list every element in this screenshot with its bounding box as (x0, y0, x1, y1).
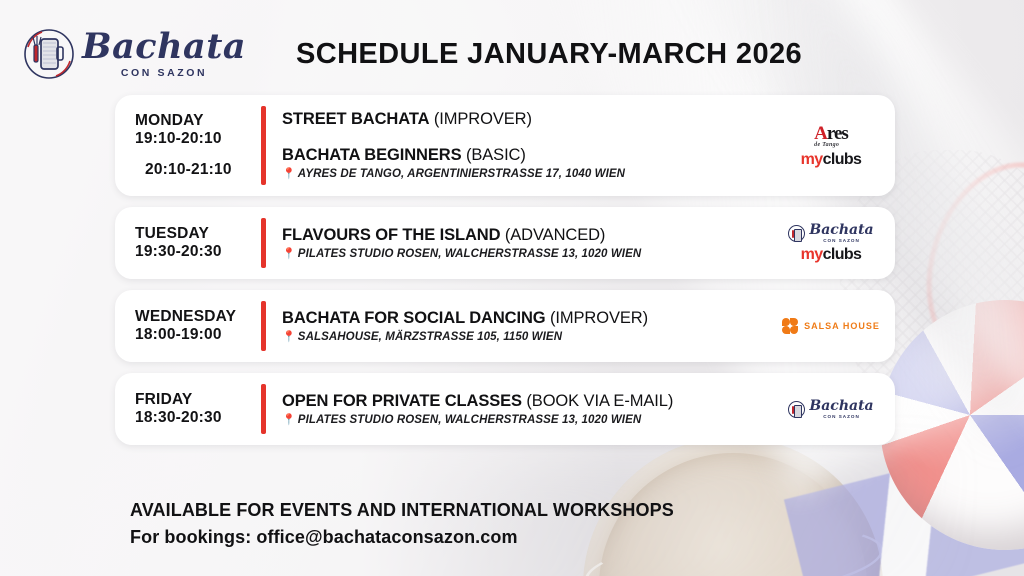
schedule-row-monday[interactable]: MONDAY 19:10-20:10 20:10-21:10 STREET BA… (115, 95, 895, 196)
class-location: 📍PILATES STUDIO ROSEN, WALCHERSTRASSE 13… (282, 413, 775, 427)
bcs-name-label: Bachata (809, 399, 873, 413)
location-pin-icon: 📍 (282, 331, 296, 343)
class-entry: BACHATA BEGINNERS (BASIC) 📍AYRES DE TANG… (282, 145, 775, 182)
class-details: STREET BACHATA (IMPROVER) BACHATA BEGINN… (266, 109, 775, 181)
brand-tagline: CON SAZON (82, 67, 246, 79)
footer: AVAILABLE FOR EVENTS AND INTERNATIONAL W… (130, 500, 674, 548)
bachata-con-sazon-logo: Bachata CON SAZON (788, 223, 873, 243)
class-location: 📍AYRES DE TANGO, ARGENTINIERSTRASSE 17, … (282, 167, 775, 181)
footer-availability: AVAILABLE FOR EVENTS AND INTERNATIONAL W… (130, 500, 674, 521)
class-level: (IMPROVER) (550, 309, 648, 327)
brand-logo: Bachata CON SAZON (22, 22, 252, 86)
brand-name: Bachata (82, 29, 246, 64)
partner-logos: Ares de Tango myclubs (775, 124, 895, 168)
class-name: STREET BACHATA (282, 110, 429, 128)
schedule-row-tuesday[interactable]: TUESDAY 19:30-20:30 FLAVOURS OF THE ISLA… (115, 207, 895, 279)
time-label: 19:10-20:10 (135, 130, 261, 148)
class-entry: STREET BACHATA (IMPROVER) (282, 109, 775, 130)
class-level: (BOOK VIA E-MAIL) (526, 392, 673, 410)
myclubs-logo: myclubs (801, 152, 862, 168)
schedule-row-wednesday[interactable]: WEDNESDAY 18:00-19:00 BACHATA FOR SOCIAL… (115, 290, 895, 362)
class-name: BACHATA BEGINNERS (282, 146, 462, 164)
class-entry: FLAVOURS OF THE ISLAND (ADVANCED) 📍PILAT… (282, 225, 775, 262)
partner-logos: SALSA HOUSE (775, 318, 895, 334)
class-name: FLAVOURS OF THE ISLAND (282, 226, 500, 244)
class-details: OPEN FOR PRIVATE CLASSES (BOOK VIA E-MAI… (266, 391, 775, 428)
guiro-shaker-icon (22, 27, 76, 81)
schedule-row-friday[interactable]: FRIDAY 18:30-20:30 OPEN FOR PRIVATE CLAS… (115, 373, 895, 445)
day-label: TUESDAY (135, 225, 261, 243)
day-time-column: MONDAY 19:10-20:10 20:10-21:10 (135, 112, 261, 180)
day-label: MONDAY (135, 112, 261, 130)
class-level: (ADVANCED) (505, 226, 605, 244)
day-label: FRIDAY (135, 391, 261, 409)
salsa-house-logo: SALSA HOUSE (782, 318, 880, 334)
footer-bookings: For bookings: office@bachataconsazon.com (130, 527, 674, 548)
ayres-de-tango-logo: Ares de Tango (814, 124, 848, 148)
time-label: 19:30-20:30 (135, 243, 261, 261)
partner-logos: Bachata CON SAZON (775, 399, 895, 419)
class-name: OPEN FOR PRIVATE CLASSES (282, 392, 522, 410)
guiro-shaker-icon (788, 225, 805, 242)
bcs-tagline-label: CON SAZON (809, 414, 873, 419)
partner-logos: Bachata CON SAZON myclubs (775, 223, 895, 263)
class-details: BACHATA FOR SOCIAL DANCING (IMPROVER) 📍S… (266, 308, 775, 345)
day-time-column: WEDNESDAY 18:00-19:00 (135, 308, 261, 345)
class-entry: OPEN FOR PRIVATE CLASSES (BOOK VIA E-MAI… (282, 391, 775, 428)
schedule-list: MONDAY 19:10-20:10 20:10-21:10 STREET BA… (115, 95, 895, 456)
guiro-shaker-icon (788, 401, 805, 418)
myclubs-logo: myclubs (801, 247, 862, 263)
bcs-tagline-label: CON SAZON (809, 238, 873, 243)
location-pin-icon: 📍 (282, 248, 296, 260)
location-pin-icon: 📍 (282, 168, 296, 180)
class-name: BACHATA FOR SOCIAL DANCING (282, 309, 546, 327)
page-title: SCHEDULE JANUARY-MARCH 2026 (296, 38, 802, 71)
time-label: 18:30-20:30 (135, 409, 261, 427)
day-time-column: FRIDAY 18:30-20:30 (135, 391, 261, 428)
class-level: (IMPROVER) (434, 110, 532, 128)
bcs-name-label: Bachata (809, 223, 873, 237)
day-label: WEDNESDAY (135, 308, 261, 326)
class-location: 📍PILATES STUDIO ROSEN, WALCHERSTRASSE 13… (282, 247, 775, 261)
class-entry: BACHATA FOR SOCIAL DANCING (IMPROVER) 📍S… (282, 308, 775, 345)
class-details: FLAVOURS OF THE ISLAND (ADVANCED) 📍PILAT… (266, 225, 775, 262)
day-time-column: TUESDAY 19:30-20:30 (135, 225, 261, 262)
time-label: 18:00-19:00 (135, 326, 261, 344)
clover-icon (782, 318, 798, 334)
location-pin-icon: 📍 (282, 414, 296, 426)
class-location: 📍SALSAHOUSE, MÄRZSTRASSE 105, 1150 WIEN (282, 330, 775, 344)
class-level: (BASIC) (466, 146, 526, 164)
time-label-2: 20:10-21:10 (135, 161, 261, 179)
salsa-house-label: SALSA HOUSE (804, 321, 880, 331)
bachata-con-sazon-logo: Bachata CON SAZON (788, 399, 873, 419)
